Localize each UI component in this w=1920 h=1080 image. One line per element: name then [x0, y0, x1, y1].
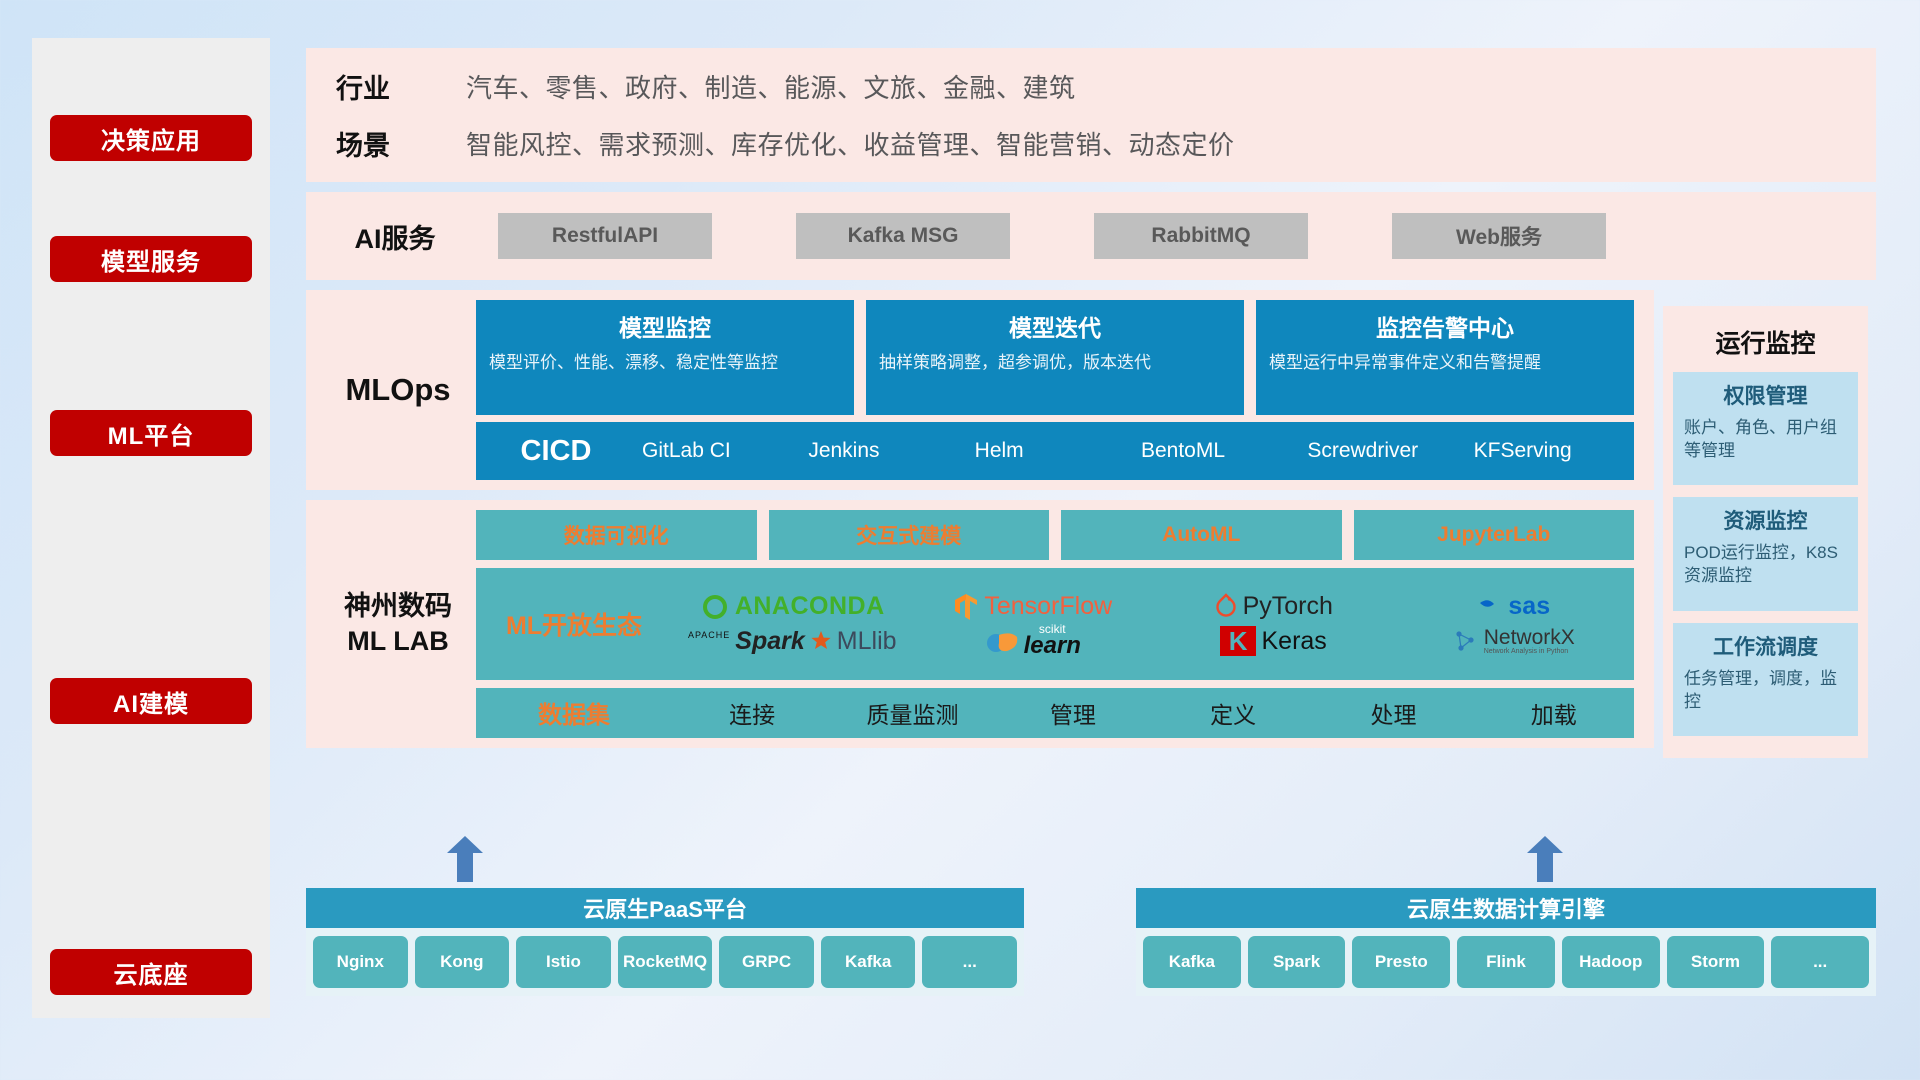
- ml-lab-tabs: 数据可视化 交互式建模 AutoML JupyterLab: [476, 510, 1634, 560]
- up-arrow-engine: [1526, 836, 1564, 887]
- monitor-card-title: 工作流调度: [1684, 631, 1847, 661]
- cicd-item-gitlab-ci[interactable]: GitLab CI: [636, 440, 802, 462]
- scikit-learn-logo: scikit learn: [985, 624, 1081, 658]
- spark-label: Spark: [735, 627, 804, 656]
- service-button-web[interactable]: Web服务: [1392, 213, 1606, 259]
- runtime-monitoring-title: 运行监控: [1673, 324, 1858, 360]
- stage-chip-model-service[interactable]: 模型服务: [50, 236, 252, 282]
- learn-label: learn: [1024, 635, 1081, 658]
- cloud-paas-title: 云原生PaaS平台: [306, 888, 1024, 928]
- ml-lab-label: 神州数码 ML LAB: [320, 500, 476, 748]
- runtime-monitoring-panel: 运行监控 权限管理 账户、角色、用户组等管理 资源监控 POD运行监控，K8S资…: [1663, 306, 1868, 758]
- ml-lab-band: 神州数码 ML LAB 数据可视化 交互式建模 AutoML JupyterLa…: [306, 500, 1654, 748]
- paas-chip-nginx[interactable]: Nginx: [313, 936, 408, 988]
- networkx-logo: NetworkX Network Analysis in Python: [1453, 627, 1575, 655]
- stage-chip-ai-modeling[interactable]: AI建模: [50, 678, 252, 724]
- keras-label: Keras: [1261, 627, 1326, 656]
- engine-chip-storm[interactable]: Storm: [1667, 936, 1765, 988]
- tab-data-visualization[interactable]: 数据可视化: [476, 510, 757, 560]
- mlops-label: MLOps: [320, 290, 476, 490]
- paas-chip-rocketmq[interactable]: RocketMQ: [618, 936, 713, 988]
- paas-chip-istio[interactable]: Istio: [516, 936, 611, 988]
- sas-label: sas: [1508, 592, 1550, 621]
- dataset-item-definition[interactable]: 定义: [1153, 696, 1313, 730]
- dataset-item-quality-monitoring[interactable]: 质量监测: [832, 696, 992, 730]
- cloud-foundation-row: 云原生PaaS平台 Nginx Kong Istio RocketMQ GRPC…: [306, 888, 1876, 1006]
- ai-service-buttons: RestfulAPI Kafka MSG RabbitMQ Web服务: [470, 213, 1606, 259]
- ml-open-ecosystem-title: ML开放生态: [476, 606, 672, 642]
- industry-line: 行业 汽车、零售、政府、制造、能源、文旅、金融、建筑: [336, 67, 1862, 106]
- cicd-item-kfserving[interactable]: KFServing: [1468, 440, 1634, 462]
- dataset-item-processing[interactable]: 处理: [1313, 696, 1473, 730]
- ai-service-band: AI服务 RestfulAPI Kafka MSG RabbitMQ Web服务: [306, 192, 1876, 280]
- card-desc: 模型运行中异常事件定义和告警提醒: [1269, 351, 1621, 374]
- cicd-item-bentoml[interactable]: BentoML: [1135, 440, 1301, 462]
- monitor-card-permission[interactable]: 权限管理 账户、角色、用户组等管理: [1673, 372, 1858, 485]
- monitor-card-desc: 任务管理，调度，监控: [1684, 668, 1847, 714]
- dataset-title: 数据集: [476, 695, 672, 730]
- cicd-item-helm[interactable]: Helm: [969, 440, 1135, 462]
- cloud-native-paas-group: 云原生PaaS平台 Nginx Kong Istio RocketMQ GRPC…: [306, 888, 1024, 996]
- card-title: 模型监控: [489, 309, 841, 343]
- ml-lab-label-line1: 神州数码: [344, 589, 452, 624]
- mlops-card-model-iteration[interactable]: 模型迭代 抽样策略调整，超参调优，版本迭代: [866, 300, 1244, 415]
- service-button-rabbitmq[interactable]: RabbitMQ: [1094, 213, 1308, 259]
- networkx-label: NetworkX: [1484, 627, 1575, 648]
- engine-chip-kafka[interactable]: Kafka: [1143, 936, 1241, 988]
- scenario-label: 场景: [336, 124, 466, 163]
- dataset-item-loading[interactable]: 加载: [1474, 696, 1634, 730]
- architecture-main-column: 行业 汽车、零售、政府、制造、能源、文旅、金融、建筑 场景 智能风控、需求预测、…: [306, 48, 1876, 748]
- card-title: 监控告警中心: [1269, 309, 1621, 343]
- up-arrow-paas: [446, 836, 484, 887]
- engine-chip-more[interactable]: ...: [1771, 936, 1869, 988]
- stage-chip-cloud-base[interactable]: 云底座: [50, 949, 252, 995]
- cicd-item-screwdriver[interactable]: Screwdriver: [1301, 440, 1467, 462]
- monitor-card-title: 资源监控: [1684, 505, 1847, 535]
- monitor-card-title: 权限管理: [1684, 380, 1847, 410]
- cloud-native-data-engine-group: 云原生数据计算引擎 Kafka Spark Presto Flink Hadoo…: [1136, 888, 1876, 996]
- stage-chip-decision[interactable]: 决策应用: [50, 115, 252, 161]
- tab-automl[interactable]: AutoML: [1061, 510, 1342, 560]
- mlops-band: MLOps 模型监控 模型评价、性能、漂移、稳定性等监控 模型迭代 抽样策略调整…: [306, 290, 1654, 490]
- dataset-item-connect[interactable]: 连接: [672, 696, 832, 730]
- dataset-bar: 数据集 连接 质量监测 管理 定义 处理 加载: [476, 688, 1634, 738]
- anaconda-label: ANACONDA: [735, 592, 885, 621]
- mllib-label: MLlib: [837, 627, 897, 656]
- monitor-card-workflow[interactable]: 工作流调度 任务管理，调度，监控: [1673, 623, 1858, 736]
- paas-chip-grpc[interactable]: GRPC: [719, 936, 814, 988]
- tab-interactive-modeling[interactable]: 交互式建模: [769, 510, 1050, 560]
- engine-chip-hadoop[interactable]: Hadoop: [1562, 936, 1660, 988]
- cicd-bar: CICD GitLab CI Jenkins Helm BentoML Scre…: [476, 422, 1634, 480]
- monitor-card-desc: 账户、角色、用户组等管理: [1684, 417, 1847, 463]
- ml-open-ecosystem-box: ML开放生态 ANACONDA TensorFlow: [476, 568, 1634, 680]
- industry-label: 行业: [336, 67, 466, 106]
- spark-mllib-logo: APACHE Spark MLlib: [688, 627, 897, 656]
- service-button-restfulapi[interactable]: RestfulAPI: [498, 213, 712, 259]
- decision-application-band: 行业 汽车、零售、政府、制造、能源、文旅、金融、建筑 场景 智能风控、需求预测、…: [306, 48, 1876, 182]
- pytorch-label: PyTorch: [1243, 592, 1333, 621]
- mlops-card-group: 模型监控 模型评价、性能、漂移、稳定性等监控 模型迭代 抽样策略调整，超参调优，…: [476, 300, 1634, 415]
- mlops-card-alert-center[interactable]: 监控告警中心 模型运行中异常事件定义和告警提醒: [1256, 300, 1634, 415]
- paas-chip-more[interactable]: ...: [922, 936, 1017, 988]
- sas-logo: sas: [1477, 592, 1550, 621]
- card-desc: 模型评价、性能、漂移、稳定性等监控: [489, 351, 841, 374]
- tensorflow-logo: TensorFlow: [953, 592, 1112, 622]
- anaconda-logo: ANACONDA: [700, 592, 885, 622]
- stage-rail: 决策应用 模型服务 ML平台 AI建模 云底座: [32, 38, 270, 1018]
- industry-value: 汽车、零售、政府、制造、能源、文旅、金融、建筑: [466, 68, 1076, 105]
- dataset-item-management[interactable]: 管理: [993, 696, 1153, 730]
- service-button-kafka-msg[interactable]: Kafka MSG: [796, 213, 1010, 259]
- card-desc: 抽样策略调整，超参调优，版本迭代: [879, 351, 1231, 374]
- ai-service-label: AI服务: [320, 217, 470, 256]
- card-title: 模型迭代: [879, 309, 1231, 343]
- pytorch-logo: PyTorch: [1214, 592, 1333, 622]
- monitor-card-resource[interactable]: 资源监控 POD运行监控，K8S资源监控: [1673, 497, 1858, 610]
- engine-chip-presto[interactable]: Presto: [1352, 936, 1450, 988]
- paas-chip-kafka[interactable]: Kafka: [821, 936, 916, 988]
- ml-lab-label-line2: ML LAB: [347, 624, 449, 659]
- tab-jupyterlab[interactable]: JupyterLab: [1354, 510, 1635, 560]
- mlops-card-model-monitoring[interactable]: 模型监控 模型评价、性能、漂移、稳定性等监控: [476, 300, 854, 415]
- stage-chip-ml-platform[interactable]: ML平台: [50, 410, 252, 456]
- tensorflow-label: TensorFlow: [984, 592, 1112, 621]
- networkx-sublabel: Network Analysis in Python: [1484, 648, 1575, 655]
- scenario-line: 场景 智能风控、需求预测、库存优化、收益管理、智能营销、动态定价: [336, 124, 1862, 163]
- keras-logo: K Keras: [1220, 626, 1327, 656]
- scenario-value: 智能风控、需求预测、库存优化、收益管理、智能营销、动态定价: [466, 125, 1235, 162]
- spark-apache-label: APACHE: [688, 630, 730, 640]
- cicd-title: CICD: [476, 435, 636, 468]
- monitor-card-desc: POD运行监控，K8S资源监控: [1684, 542, 1847, 588]
- engine-chip-spark[interactable]: Spark: [1248, 936, 1346, 988]
- paas-chip-kong[interactable]: Kong: [415, 936, 510, 988]
- cicd-item-jenkins[interactable]: Jenkins: [802, 440, 968, 462]
- engine-chip-flink[interactable]: Flink: [1457, 936, 1555, 988]
- cloud-engine-title: 云原生数据计算引擎: [1136, 888, 1876, 928]
